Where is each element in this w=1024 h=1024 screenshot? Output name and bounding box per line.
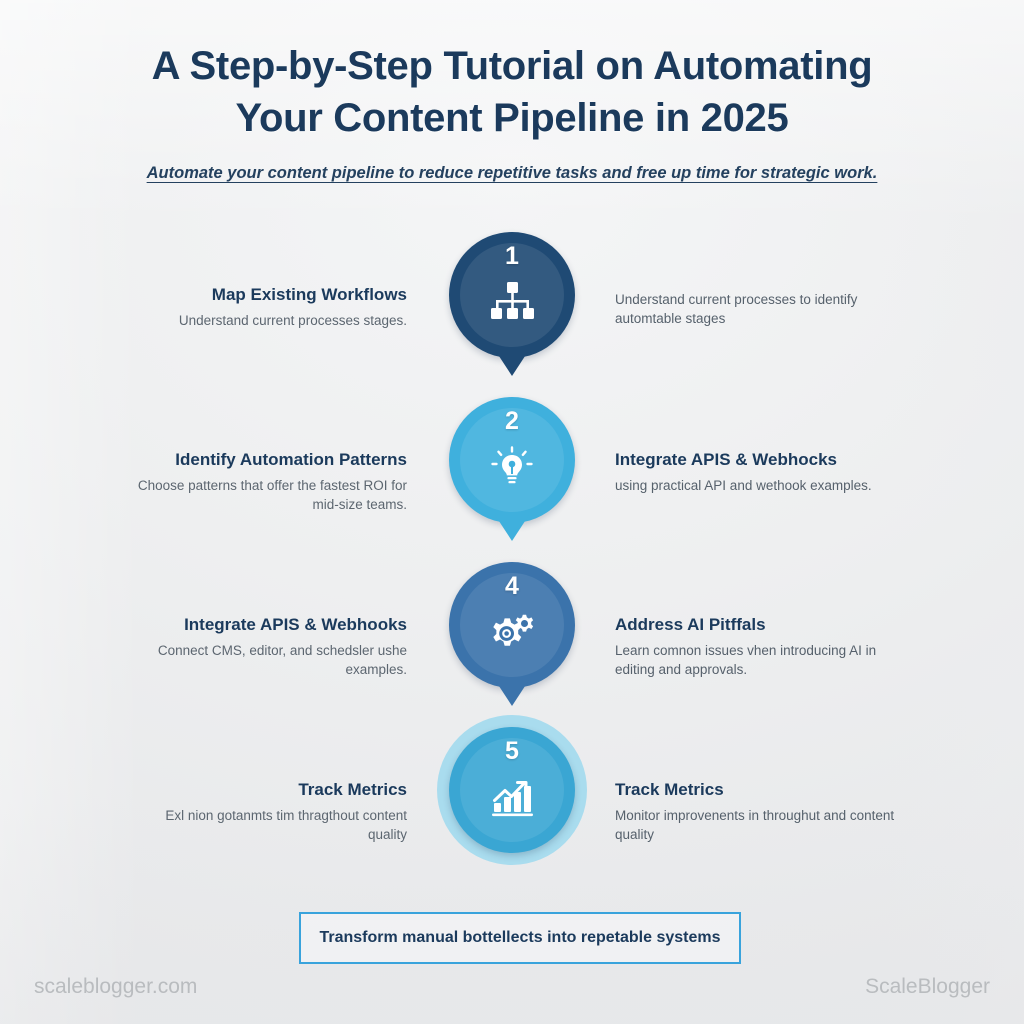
summary-banner-text: Transform manual bottellects into repeta… [319,929,720,947]
step-left-body: Exl nion gotanmts tim thragthout content… [127,806,407,844]
step-number: 5 [505,739,519,764]
step-left-body: Connect CMS, editor, and schedsler ushe … [127,641,407,679]
summary-banner: Transform manual bottellects into repeta… [299,912,741,964]
step-marker[interactable]: 2 [437,397,587,523]
step-circle[interactable]: 1 [449,232,575,358]
step-row: Identify Automation Patterns Choose patt… [0,397,1024,562]
step-circle[interactable]: 5 [449,727,575,853]
step-left-column: Identify Automation Patterns Choose patt… [127,397,437,514]
step-row: Integrate APIS & Webhooks Connect CMS, e… [0,562,1024,727]
step-circle[interactable]: 4 [449,562,575,688]
step-left-body: Understand current processes stages. [127,311,407,330]
watermark-left: scaleblogger.com [34,975,197,999]
step-left-body: Choose patterns that offer the fastest R… [127,476,407,514]
step-pointer [495,515,529,541]
step-right-column: Integrate APIS & Webhocks using practica… [587,397,897,495]
step-row: Map Existing Workflows Understand curren… [0,232,1024,397]
step-right-body: Understand current processes to identify… [615,290,897,328]
step-left-heading: Integrate APIS & Webhooks [127,614,407,635]
step-left-column: Integrate APIS & Webhooks Connect CMS, e… [127,562,437,679]
step-left-column: Track Metrics Exl nion gotanmts tim thra… [127,727,437,844]
page-subtitle: Automate your content pipeline to reduce… [142,162,882,184]
header: A Step-by-Step Tutorial on Automating Yo… [0,40,1024,184]
step-pointer [495,350,529,376]
step-number: 2 [505,409,519,434]
workflow-hierarchy-icon [484,276,540,328]
step-row: Track Metrics Exl nion gotanmts tim thra… [0,727,1024,877]
lightbulb-idea-icon [484,441,540,493]
step-right-column: Understand current processes to identify… [587,232,897,328]
step-right-body: Monitor improvenents in throughut and co… [615,806,897,844]
step-circle[interactable]: 2 [449,397,575,523]
steps-list: Map Existing Workflows Understand curren… [0,232,1024,877]
step-left-heading: Track Metrics [127,779,407,800]
step-right-heading: Track Metrics [615,779,897,800]
step-left-heading: Map Existing Workflows [127,284,407,305]
step-number: 1 [505,244,519,269]
step-right-column: Track Metrics Monitor improvenents in th… [587,727,897,844]
step-right-body: using practical API and wethook examples… [615,476,897,495]
step-left-heading: Identify Automation Patterns [127,449,407,470]
growth-bar-chart-icon [484,771,540,823]
step-marker[interactable]: 5 [437,727,587,853]
step-marker[interactable]: 1 [437,232,587,358]
step-right-body: Learn comnon issues vhen introducing AI … [615,641,897,679]
page-title: A Step-by-Step Tutorial on Automating Yo… [132,40,892,144]
step-right-heading: Address AI Pitffals [615,614,897,635]
step-left-column: Map Existing Workflows Understand curren… [127,232,437,330]
watermark-right: ScaleBlogger [865,975,990,999]
gears-settings-icon [484,606,540,658]
step-number: 4 [505,574,519,599]
step-right-column: Address AI Pitffals Learn comnon issues … [587,562,897,679]
step-right-heading: Integrate APIS & Webhocks [615,449,897,470]
step-pointer [495,680,529,706]
infographic-canvas: A Step-by-Step Tutorial on Automating Yo… [0,0,1024,1024]
step-marker[interactable]: 4 [437,562,587,688]
